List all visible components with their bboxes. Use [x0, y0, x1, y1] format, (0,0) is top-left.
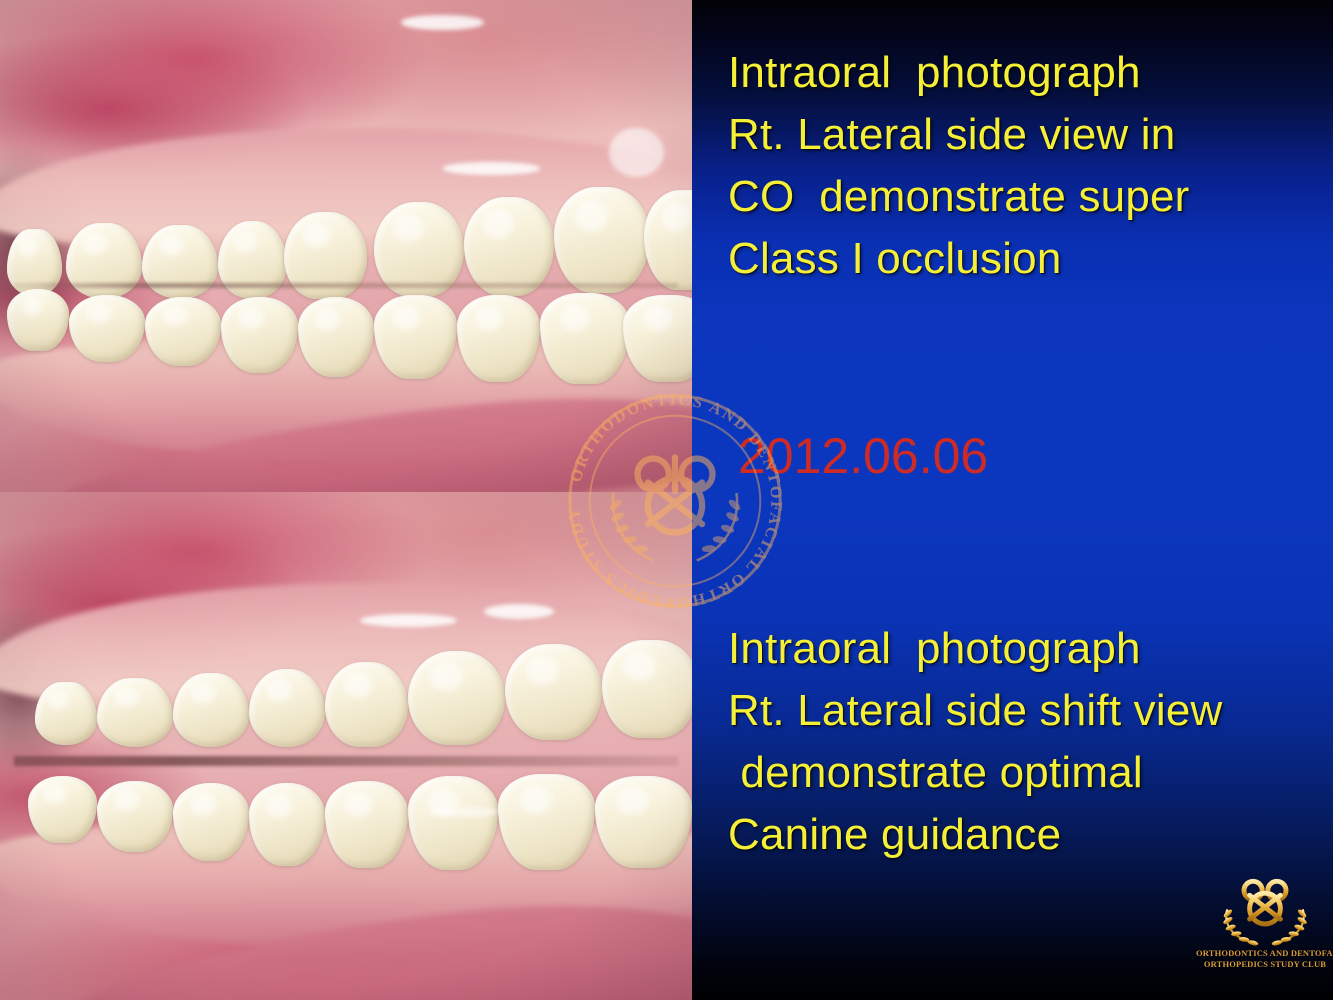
caption-line: CO demonstrate super — [728, 166, 1328, 228]
caption-line: Intraoral photograph — [728, 618, 1328, 680]
tooth — [325, 781, 408, 868]
photo-intraoral-right-lateral-shift — [0, 492, 692, 1000]
specular-highlight — [360, 614, 457, 627]
lower-tooth-row — [0, 276, 692, 384]
photo-intraoral-right-lateral-co — [0, 0, 692, 492]
tooth — [249, 669, 325, 747]
caption-block-bottom: Intraoral photograph Rt. Lateral side sh… — [728, 618, 1328, 866]
specular-highlight — [484, 604, 553, 619]
tooth — [374, 295, 457, 379]
tooth — [249, 783, 325, 866]
caption-line: Class I occlusion — [728, 228, 1328, 290]
slide-root: Intraoral photograph Rt. Lateral side vi… — [0, 0, 1333, 1000]
tooth — [540, 293, 630, 384]
specular-highlight — [401, 15, 484, 30]
tooth — [408, 776, 498, 870]
tooth — [505, 644, 602, 740]
tooth — [7, 289, 69, 352]
specular-highlight — [609, 128, 664, 177]
tooth — [173, 783, 249, 861]
club-logo: ORTHODONTICS AND DENTOFACIAL ORTHOPEDICS… — [1196, 872, 1333, 988]
tooth — [35, 682, 97, 745]
tooth — [602, 640, 692, 738]
caption-panel: Intraoral photograph Rt. Lateral side vi… — [692, 0, 1333, 1000]
logo-text-line-1: ORTHODONTICS AND DENTOFACIAL — [1196, 948, 1333, 959]
tooth — [97, 781, 173, 853]
tooth — [298, 297, 374, 377]
tooth — [97, 678, 173, 747]
caption-line: Canine guidance — [728, 804, 1328, 866]
tooth — [173, 673, 249, 747]
tooth — [221, 297, 297, 373]
tooth — [408, 651, 505, 745]
tooth — [623, 295, 692, 382]
specular-highlight — [443, 162, 540, 174]
lower-tooth-row — [0, 756, 692, 868]
date-stamp: 2012.06.06 — [738, 427, 988, 485]
tooth — [145, 297, 221, 366]
tooth — [325, 662, 408, 747]
tooth — [69, 295, 145, 362]
photo-column — [0, 0, 692, 1000]
tooth — [595, 776, 692, 868]
logo-text-line-2: ORTHOPEDICS STUDY CLUB — [1196, 959, 1333, 970]
tooth — [457, 295, 540, 382]
orthodontics-club-emblem-icon — [1209, 872, 1321, 948]
caption-line: demonstrate optimal — [728, 742, 1328, 804]
tooth — [28, 776, 97, 843]
caption-line: Intraoral photograph — [728, 42, 1328, 104]
caption-line: Rt. Lateral side shift view — [728, 680, 1328, 742]
tooth — [498, 774, 595, 870]
upper-tooth-row — [0, 644, 692, 756]
caption-line: Rt. Lateral side view in — [728, 104, 1328, 166]
caption-block-top: Intraoral photograph Rt. Lateral side vi… — [728, 42, 1328, 290]
